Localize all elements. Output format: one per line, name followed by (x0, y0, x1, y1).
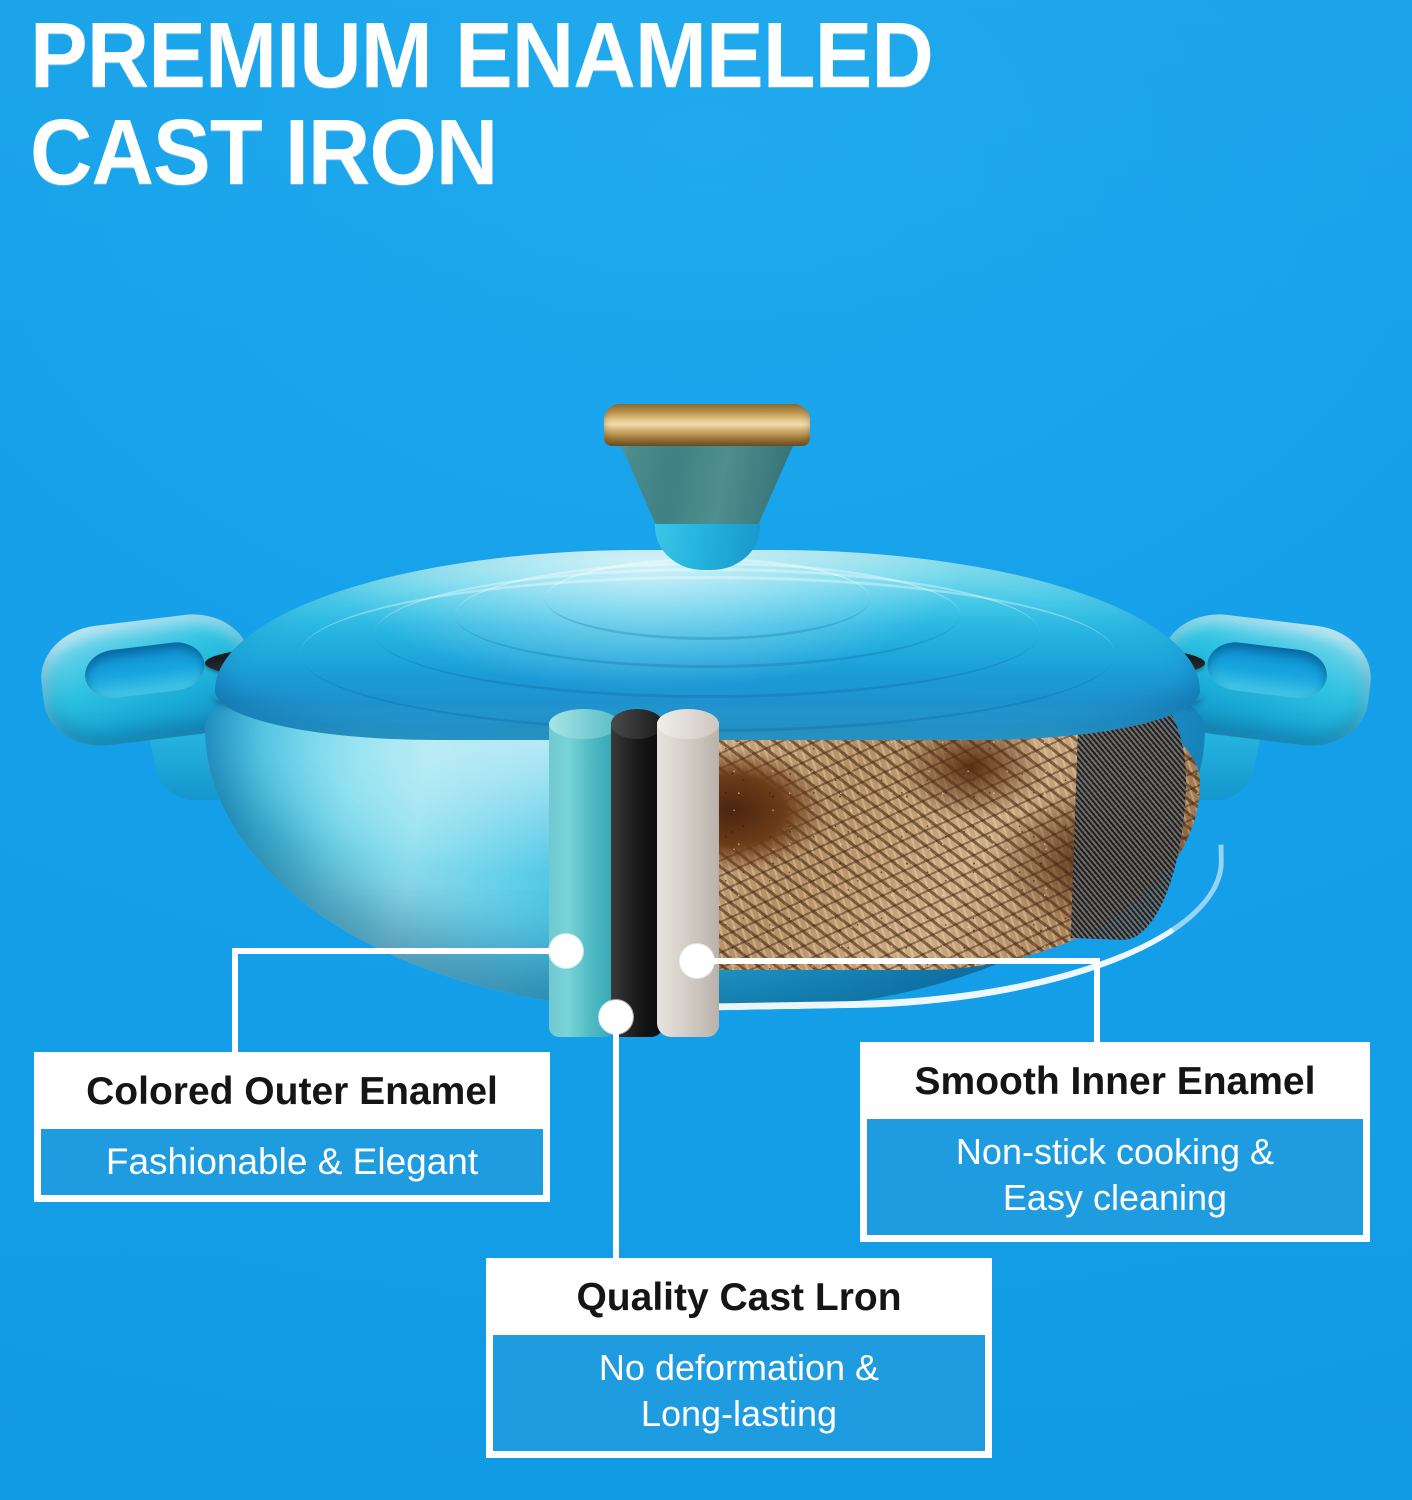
handle-hole-right (1205, 639, 1330, 701)
marker-dot-outer-enamel (549, 934, 583, 968)
callout-subtitle-cast-iron-line1: No deformation & (499, 1345, 979, 1391)
layer-smooth-inner-enamel (657, 722, 719, 1037)
layer-iron-top-cap (611, 709, 663, 739)
layer-colored-outer-enamel (549, 722, 619, 1037)
marker-dot-inner-enamel (680, 944, 714, 978)
title-line-1: PREMIUM ENAMELED (30, 10, 1295, 101)
callout-subtitle-inner-enamel-line2: Easy cleaning (873, 1175, 1357, 1221)
callout-title-cast-iron: Quality Cast Lron (490, 1262, 988, 1332)
lid-ring-4 (545, 558, 870, 640)
layer-outer-top-cap (549, 709, 619, 739)
leader-line-left-vertical (232, 948, 238, 1058)
callout-quality-cast-iron[interactable]: Quality Cast Lron No deformation & Long-… (486, 1258, 992, 1458)
callout-title-inner-enamel: Smooth Inner Enamel (864, 1046, 1366, 1116)
marker-dot-cast-iron (599, 1000, 633, 1034)
layer-inner-top-cap (657, 709, 719, 739)
leader-line-right-vertical (1094, 958, 1100, 1048)
lid-knob-metal-cap (604, 404, 810, 446)
callout-subtitle-cast-iron-line2: Long-lasting (499, 1391, 979, 1437)
layer-cast-iron (611, 722, 663, 1037)
leader-line-left-horizontal (232, 948, 568, 954)
leader-line-right-horizontal (700, 958, 1100, 964)
callout-title-outer-enamel: Colored Outer Enamel (38, 1056, 546, 1126)
callout-colored-outer-enamel[interactable]: Colored Outer Enamel Fashionable & Elega… (34, 1052, 550, 1202)
callout-smooth-inner-enamel[interactable]: Smooth Inner Enamel Non-stick cooking & … (860, 1042, 1370, 1242)
callout-subtitle-outer-enamel: Fashionable & Elegant (38, 1126, 546, 1198)
handle-hole-left (82, 639, 207, 701)
callout-subtitle-inner-enamel-line1: Non-stick cooking & (873, 1129, 1357, 1175)
callout-subtitle-cast-iron: No deformation & Long-lasting (490, 1332, 988, 1454)
product-infographic: PREMIUM ENAMELED CAST IRON (0, 0, 1412, 1500)
leader-line-bottom-vertical (613, 1018, 619, 1262)
callout-subtitle-inner-enamel: Non-stick cooking & Easy cleaning (864, 1116, 1366, 1238)
title-line-2: CAST IRON (30, 107, 1295, 198)
page-title: PREMIUM ENAMELED CAST IRON (30, 10, 1390, 198)
